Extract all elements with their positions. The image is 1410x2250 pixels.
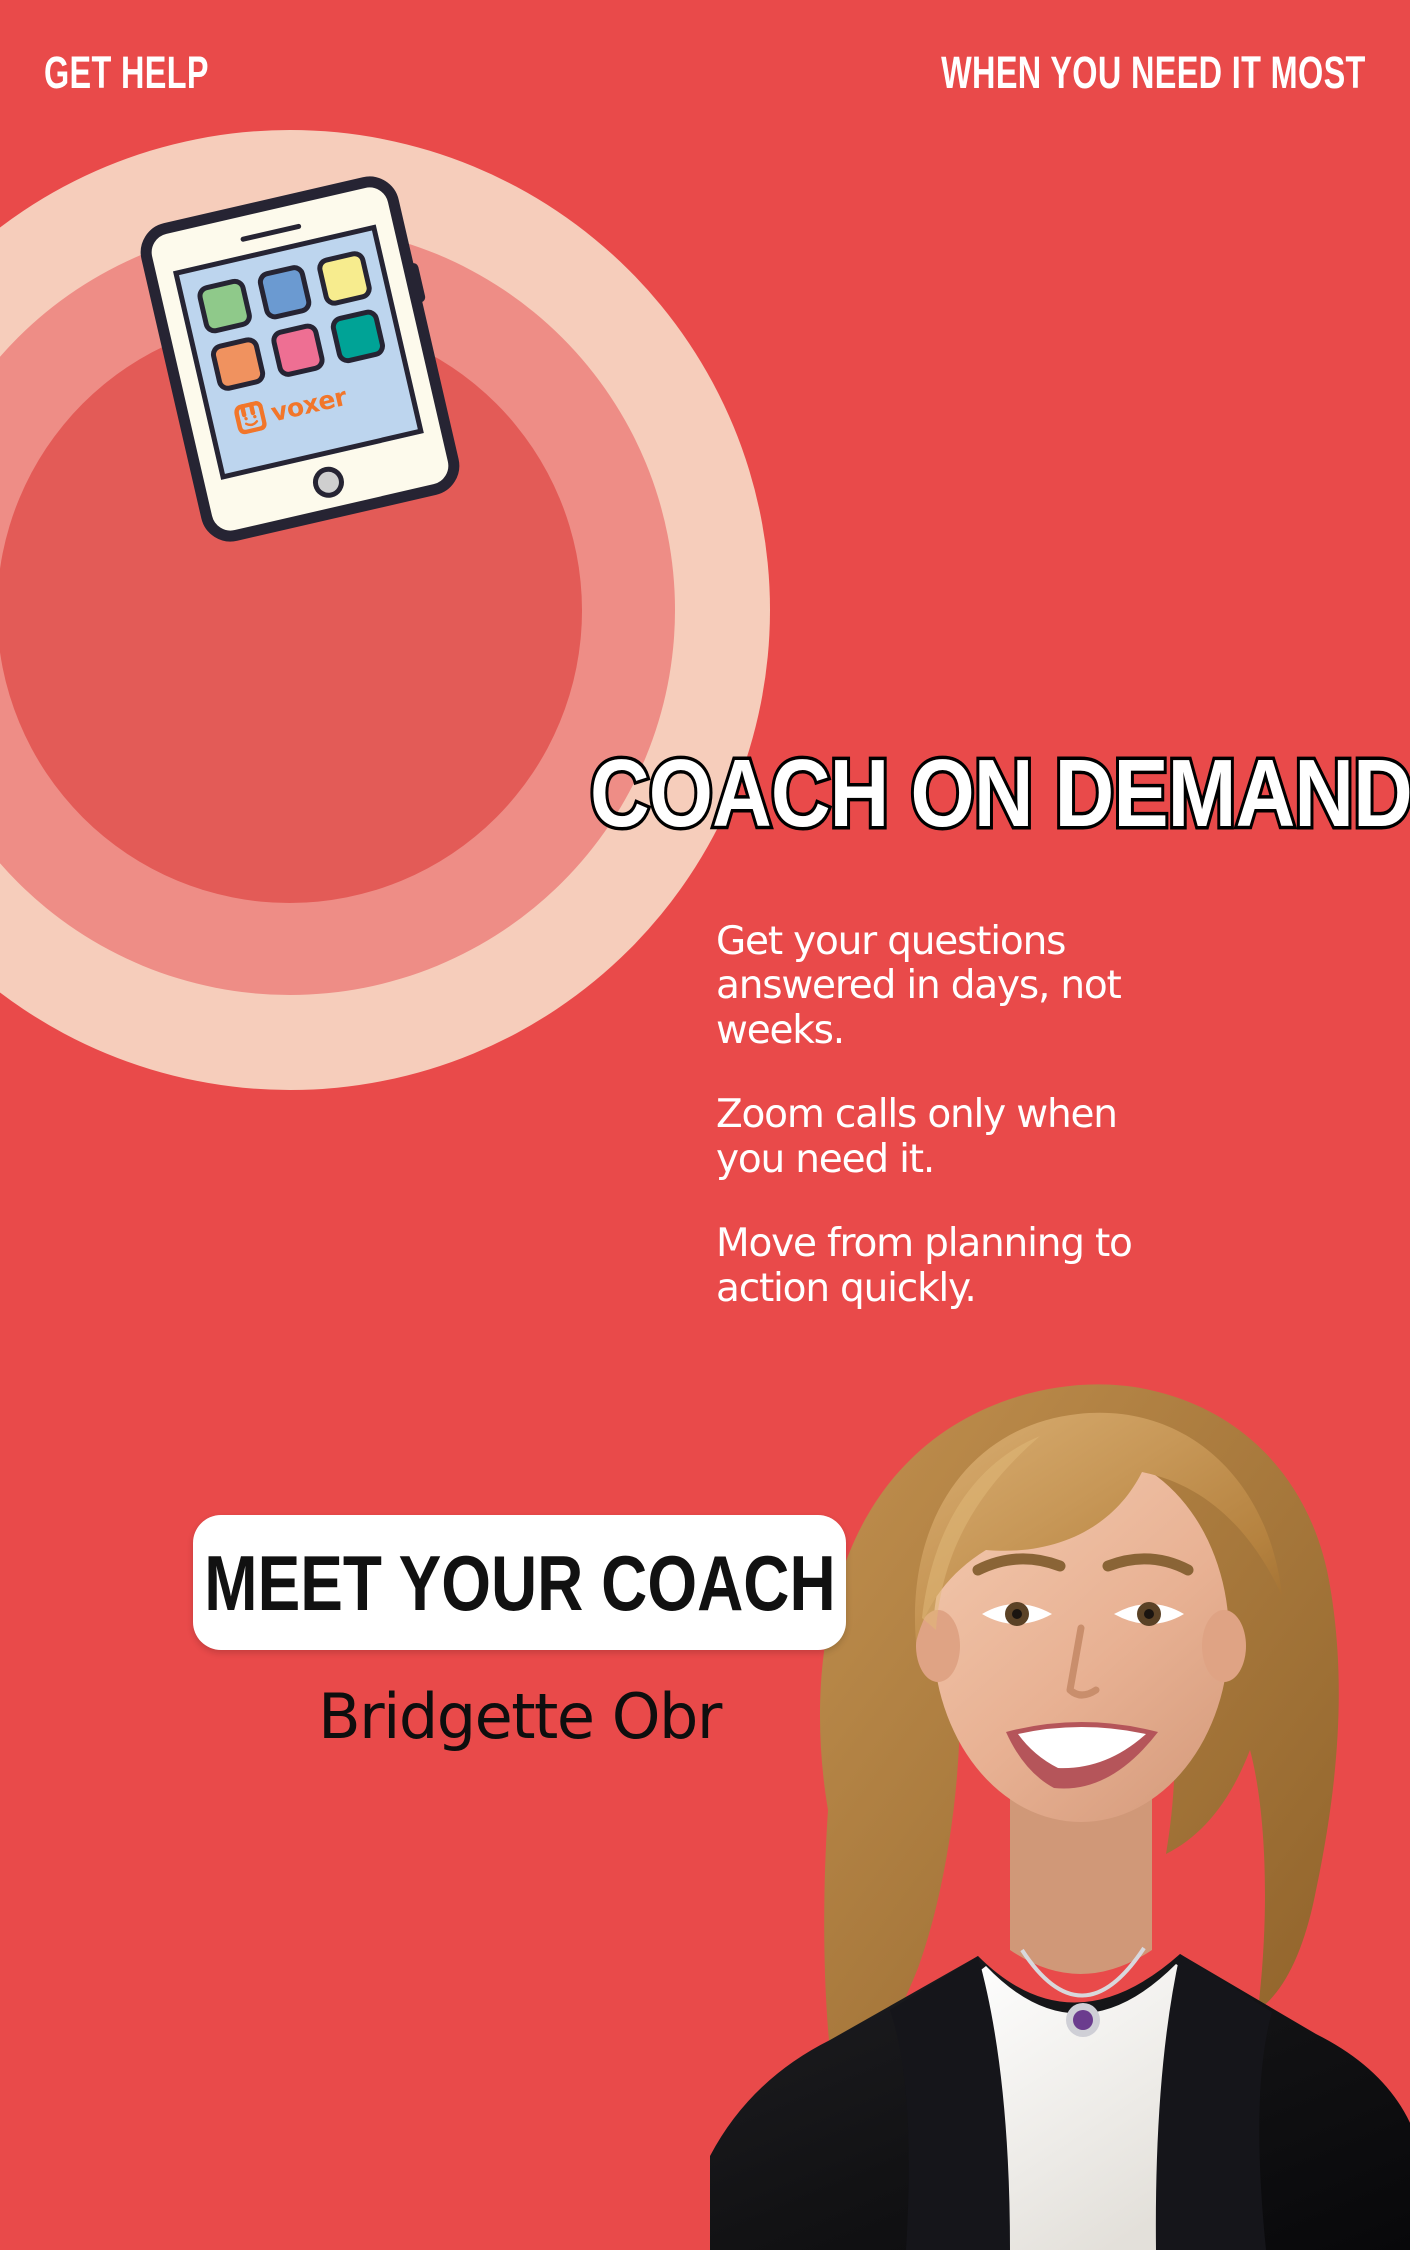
voxer-wordmark: voxer	[269, 383, 349, 425]
app-icon-green	[195, 277, 253, 335]
app-icon-pink	[269, 321, 327, 379]
cta-label: MEET YOUR COACH	[204, 1544, 835, 1622]
phone-home-button	[310, 464, 347, 501]
benefit-item-1: Get your questions answered in days, not…	[716, 920, 1196, 1053]
voxer-face-icon	[232, 400, 268, 436]
pupil-right	[1144, 1609, 1154, 1619]
kicker-left-text: GET HELP	[44, 50, 209, 95]
app-icon-teal	[329, 307, 387, 365]
page-title: COACH ON DEMAND	[590, 748, 1269, 840]
app-icon-grid	[195, 249, 387, 393]
promo-poster: GET HELP WHEN YOU NEED IT MOST	[0, 0, 1410, 2250]
meet-your-coach-button[interactable]: MEET YOUR COACH	[193, 1515, 846, 1650]
phone-speaker-icon	[240, 223, 302, 242]
app-icon-orange	[209, 335, 267, 393]
pupil-left	[1012, 1609, 1022, 1619]
app-icon-yellow	[315, 249, 373, 307]
kicker-right-text: WHEN YOU NEED IT MOST	[941, 50, 1366, 95]
ear-right	[1202, 1610, 1246, 1682]
benefit-item-2: Zoom calls only when you need it.	[716, 1093, 1196, 1182]
pendant-stone	[1073, 2010, 1093, 2030]
app-icon-blue	[255, 263, 313, 321]
coach-name: Bridgette Obr	[193, 1686, 846, 1748]
coach-portrait	[710, 1250, 1410, 2250]
kicker-header: GET HELP WHEN YOU NEED IT MOST	[0, 50, 1410, 95]
phone-screen: voxer	[173, 225, 424, 480]
voxer-logo-lockup: voxer	[232, 381, 349, 436]
